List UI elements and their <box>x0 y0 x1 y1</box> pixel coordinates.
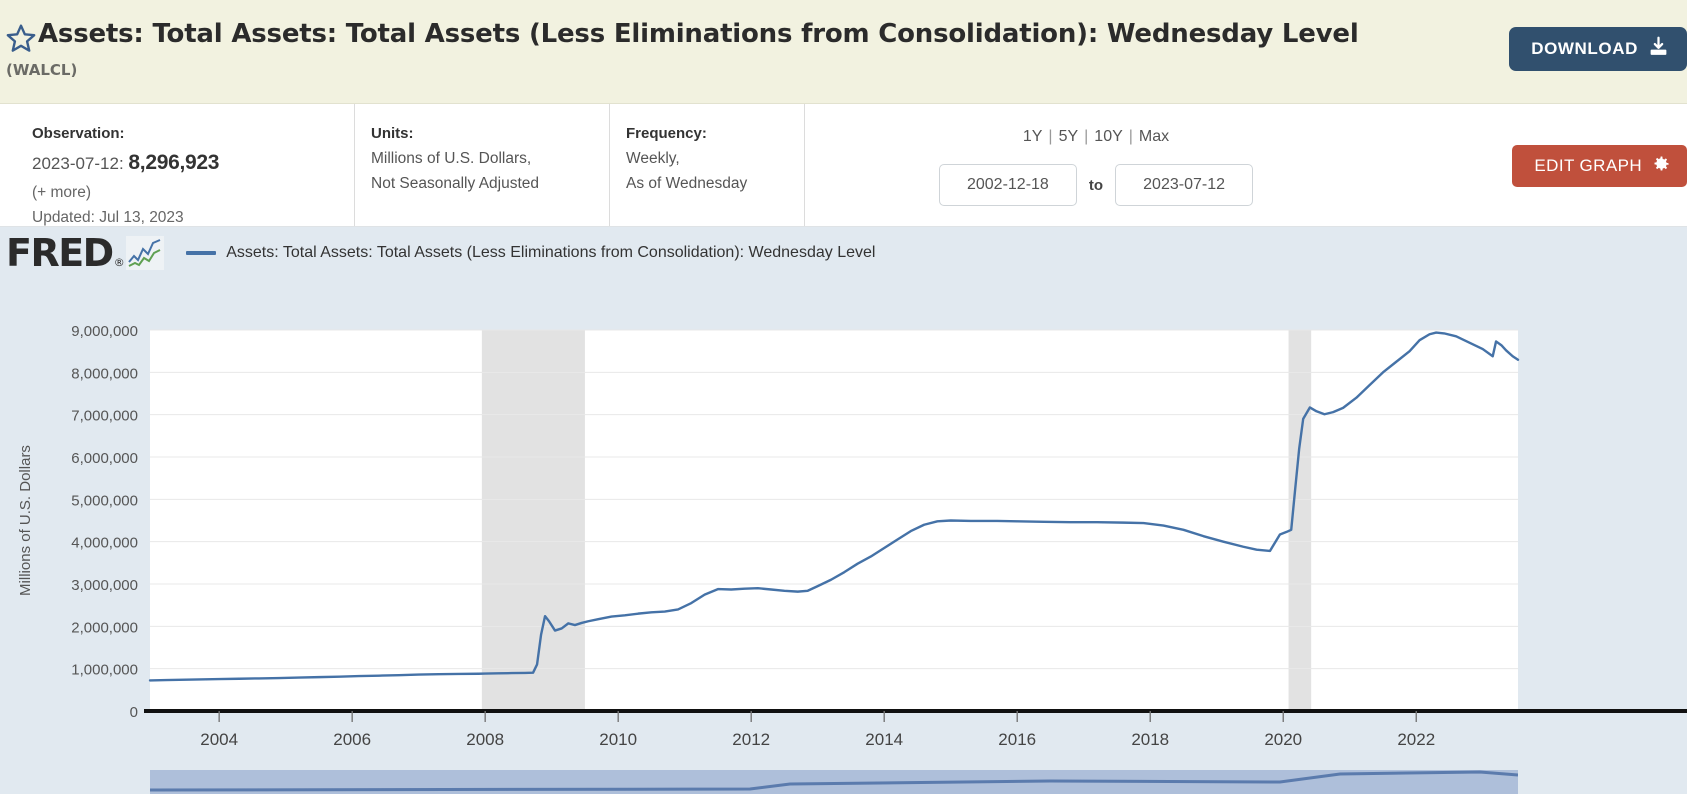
download-button[interactable]: DOWNLOAD <box>1509 27 1687 71</box>
x-tick-label: 2018 <box>1131 730 1169 749</box>
sparkline-icon <box>126 236 164 270</box>
x-tick-label: 2008 <box>466 730 504 749</box>
units-line-2: Not Seasonally Adjusted <box>371 171 589 196</box>
y-tick-label: 9,000,000 <box>71 323 138 340</box>
y-axis-title: Millions of U.S. Dollars <box>17 445 34 596</box>
x-tick-label: 2016 <box>998 730 1036 749</box>
fred-logo-text: FRED <box>6 234 113 272</box>
y-tick-label: 3,000,000 <box>71 577 138 594</box>
y-tick-label: 0 <box>130 704 138 721</box>
chart-area: FRED ® Assets: Total Assets: Total Asset… <box>0 227 1687 794</box>
legend-color-swatch <box>186 251 216 255</box>
range-shortcut-links: 1Y|5Y|10Y|Max <box>805 128 1687 146</box>
y-tick-label: 1,000,000 <box>71 662 138 679</box>
page-header: Assets: Total Assets: Total Assets (Less… <box>0 0 1687 104</box>
units-column: Units: Millions of U.S. Dollars, Not Sea… <box>355 104 610 226</box>
fred-logo-registered-mark: ® <box>114 257 124 268</box>
observation-label: Observation: <box>32 122 334 146</box>
range-link-1y[interactable]: 1Y <box>1022 128 1044 145</box>
chart-range-navigator[interactable] <box>150 770 1518 794</box>
frequency-line-1: Weekly, <box>626 146 784 171</box>
range-link-max[interactable]: Max <box>1138 128 1170 145</box>
frequency-label: Frequency: <box>626 122 784 146</box>
units-label: Units: <box>371 122 589 146</box>
page-title: Assets: Total Assets: Total Assets (Less… <box>38 20 1359 50</box>
chart-toolbar: FRED ® Assets: Total Assets: Total Asset… <box>0 227 1687 279</box>
x-tick-label: 2012 <box>732 730 770 749</box>
download-button-label: DOWNLOAD <box>1531 39 1638 59</box>
x-tick-label: 2004 <box>200 730 238 749</box>
y-tick-label: 5,000,000 <box>71 492 138 509</box>
x-tick-label: 2020 <box>1264 730 1302 749</box>
y-tick-label: 4,000,000 <box>71 535 138 552</box>
edit-graph-label: EDIT GRAPH <box>1534 156 1642 176</box>
plot-region[interactable]: 01,000,0002,000,0003,000,0004,000,0005,0… <box>0 279 1687 794</box>
line-chart-svg[interactable]: 01,000,0002,000,0003,000,0004,000,0005,0… <box>0 279 1687 794</box>
range-link-10y[interactable]: 10Y <box>1093 128 1123 145</box>
x-tick-label: 2006 <box>333 730 371 749</box>
range-link-5y[interactable]: 5Y <box>1058 128 1080 145</box>
y-tick-label: 2,000,000 <box>71 619 138 636</box>
observation-value: 8,296,923 <box>128 151 219 174</box>
observation-column: Observation: 2023-07-12: 8,296,923 (+ mo… <box>0 104 355 226</box>
metadata-bar: Observation: 2023-07-12: 8,296,923 (+ mo… <box>0 104 1687 227</box>
range-separator-1: | <box>1043 128 1057 145</box>
start-date-input[interactable] <box>939 164 1077 206</box>
range-separator-2: | <box>1079 128 1093 145</box>
chart-legend: Assets: Total Assets: Total Assets (Less… <box>186 244 875 262</box>
x-tick-label: 2010 <box>599 730 637 749</box>
star-outline-icon[interactable] <box>4 22 38 56</box>
frequency-column: Frequency: Weekly, As of Wednesday <box>610 104 805 226</box>
plot-background <box>150 330 1518 711</box>
y-tick-label: 8,000,000 <box>71 365 138 382</box>
fred-logo: FRED ® <box>6 234 123 272</box>
title-row: Assets: Total Assets: Total Assets (Less… <box>0 18 1687 56</box>
x-tick-label: 2022 <box>1397 730 1435 749</box>
edit-graph-button[interactable]: EDIT GRAPH <box>1512 145 1687 187</box>
observation-value-row: 2023-07-12: 8,296,923 <box>32 146 334 180</box>
range-separator-3: | <box>1124 128 1138 145</box>
observation-date: 2023-07-12: <box>32 154 124 173</box>
series-id: (WALCL) <box>0 61 1687 79</box>
navigator-sparkline <box>150 770 1518 794</box>
frequency-line-2: As of Wednesday <box>626 171 784 196</box>
date-range-to-label: to <box>1089 177 1103 194</box>
recession-band-0 <box>482 330 585 711</box>
y-tick-label: 7,000,000 <box>71 408 138 425</box>
end-date-input[interactable] <box>1115 164 1253 206</box>
more-link[interactable]: (+ more) <box>32 184 91 201</box>
x-tick-label: 2014 <box>865 730 903 749</box>
units-line-1: Millions of U.S. Dollars, <box>371 146 589 171</box>
range-controls-column: 1Y|5Y|10Y|Max to EDIT GRAPH <box>805 104 1687 226</box>
download-icon <box>1648 36 1669 62</box>
legend-series-label: Assets: Total Assets: Total Assets (Less… <box>226 244 875 262</box>
gear-icon <box>1651 154 1671 179</box>
y-tick-label: 6,000,000 <box>71 450 138 467</box>
